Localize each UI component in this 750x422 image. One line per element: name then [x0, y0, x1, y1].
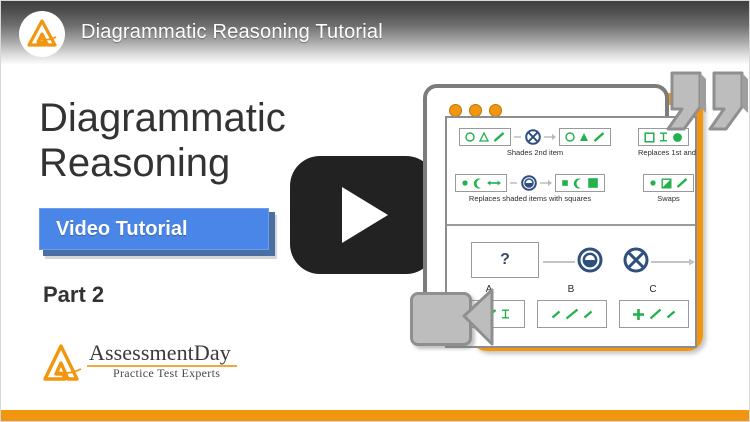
closing-quotation-marks-icon — [664, 69, 750, 139]
assessmentday-a-mark-icon — [41, 343, 83, 388]
slide-main-title: Diagrammatic Reasoning — [39, 96, 329, 186]
circle-outline-icon — [465, 132, 475, 142]
slide-title-line-2: Reasoning — [39, 141, 329, 186]
dot-small-icon — [461, 179, 469, 187]
answer-option-b[interactable] — [537, 300, 607, 328]
part-number-label: Part 2 — [43, 282, 104, 308]
badge-face[interactable]: Video Tutorial — [39, 208, 269, 250]
dot-circle-operator-icon[interactable] — [577, 247, 603, 273]
rule-4-input-shapes — [643, 174, 694, 192]
rule-4-caption: Swaps — [643, 194, 694, 203]
square-small-icon — [561, 179, 569, 187]
rule-1-output-shapes — [559, 128, 611, 146]
dot-small-icon — [649, 179, 657, 187]
slide-title-line-1: Diagrammatic — [39, 96, 286, 140]
long-slash-icon — [565, 308, 579, 320]
test-window-mockup: Shades 2nd item Replaces 1st and — [416, 71, 750, 346]
plus-green-icon — [632, 308, 645, 321]
diagonal-line-icon — [649, 308, 662, 320]
square-filled-icon — [587, 177, 599, 189]
short-slash-icon — [666, 310, 676, 319]
crescent-moon-icon — [573, 178, 583, 189]
bottom-accent-bar — [1, 410, 750, 421]
small-dash-icon — [510, 179, 518, 187]
video-tutorial-label: Video Tutorial — [40, 218, 188, 241]
brand-word-accent: Day — [194, 340, 231, 365]
assessmentday-a-logo-icon — [19, 11, 65, 57]
hourglass-icon — [501, 309, 510, 319]
crossed-circle-operator-icon — [525, 129, 541, 145]
rule-3-caption: Replaces shaded items with squares — [455, 194, 605, 203]
rules-row-2: Replaces shaded items with squares Swaps — [453, 174, 689, 222]
answer-letter-c: C — [633, 284, 673, 295]
rules-row-1: Shades 2nd item Replaces 1st and — [453, 126, 689, 174]
short-slash-icon — [551, 310, 561, 319]
rule-3-input-shapes — [455, 174, 507, 192]
play-button[interactable] — [290, 156, 436, 274]
brand-tagline: Practice Test Experts — [113, 366, 220, 381]
question-prompt-box[interactable]: ? — [471, 242, 539, 278]
half-filled-square-icon — [661, 178, 672, 189]
double-arrow-icon — [487, 179, 501, 187]
answer-letter-b: B — [551, 284, 591, 295]
diagonal-line-icon — [593, 132, 605, 142]
play-triangle-icon — [342, 187, 388, 243]
rule-item-1: Shades 2nd item — [459, 128, 611, 157]
crossed-circle-operator-icon[interactable] — [623, 247, 649, 273]
diagonal-line-icon — [493, 132, 505, 142]
assessmentday-logo: AssessmentDay Practice Test Experts — [41, 341, 231, 389]
small-dash-icon — [514, 133, 522, 141]
assessmentday-wordmark: AssessmentDay — [89, 340, 231, 366]
rule-3-output-shapes — [555, 174, 605, 192]
right-arrow-icon — [540, 179, 552, 187]
question-connector-line — [543, 258, 575, 266]
rule-1-caption: Shades 2nd item — [459, 148, 611, 157]
triangle-filled-icon — [579, 132, 589, 142]
rules-panel: Shades 2nd item Replaces 1st and — [447, 118, 695, 226]
video-tutorial-badge[interactable]: Video Tutorial — [39, 208, 271, 252]
answer-option-c[interactable] — [619, 300, 689, 328]
question-row: ? — [453, 238, 689, 284]
crescent-moon-icon — [473, 178, 483, 189]
rule-item-4: Swaps — [643, 174, 694, 203]
triangle-outline-icon — [479, 132, 489, 142]
tutorial-title-slide: Diagrammatic Reasoning Tutorial Diagramm… — [0, 0, 750, 422]
rule-2-caption: Replaces 1st and — [638, 148, 696, 157]
circle-outline-icon — [565, 132, 575, 142]
dot-circle-operator-icon — [521, 175, 537, 191]
rule-1-input-shapes — [459, 128, 511, 146]
right-arrow-icon — [651, 258, 695, 266]
page-title: Diagrammatic Reasoning Tutorial — [81, 21, 383, 44]
short-slash-icon — [583, 310, 593, 319]
slide-header: Diagrammatic Reasoning Tutorial — [1, 1, 750, 65]
video-camera-icon — [406, 286, 496, 348]
rule-item-3: Replaces shaded items with squares — [455, 174, 605, 203]
diagonal-line-icon — [676, 178, 688, 188]
square-outline-icon — [644, 132, 655, 143]
brand-word-main: Assessment — [89, 340, 194, 365]
right-arrow-icon — [544, 133, 556, 141]
camera-lens-cone — [462, 288, 496, 346]
